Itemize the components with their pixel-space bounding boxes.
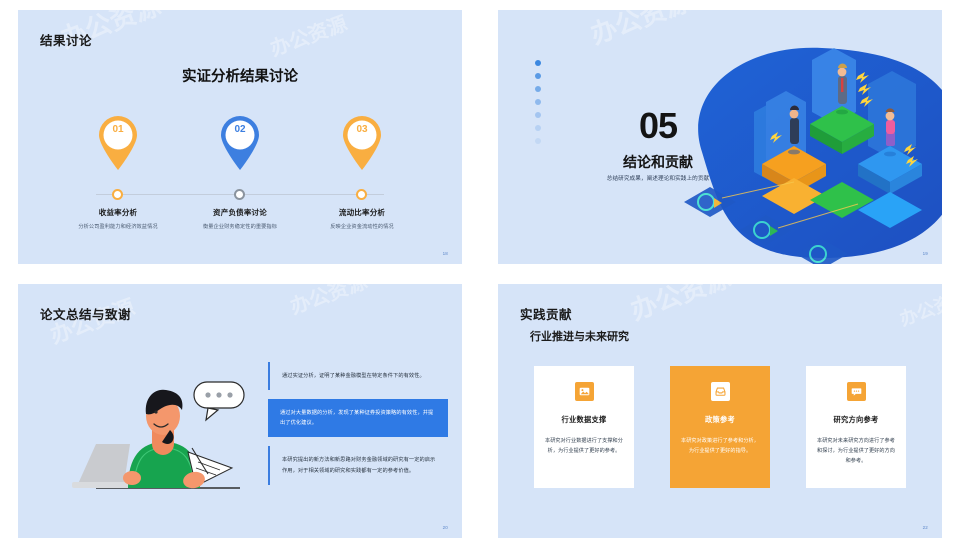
timeline-dot-02 — [234, 189, 245, 200]
step-title: 资产负债率讨论 — [180, 207, 300, 218]
slide1-canvas: 办公资源 办公资源 结果讨论 实证分析结果讨论 01 02 03 — [18, 10, 462, 264]
page-number: 20 — [443, 525, 448, 530]
step-number: 03 — [340, 124, 384, 135]
illustration-man-with-laptop — [70, 366, 260, 506]
image-chart-icon — [575, 382, 594, 401]
step-number: 02 — [218, 124, 262, 135]
watermark: 办公资源 — [285, 284, 370, 320]
card-title: 研究方向参考 — [817, 415, 895, 425]
step-pin-03[interactable]: 03 — [340, 115, 384, 171]
section-number: 05 — [558, 108, 758, 144]
step-caption-03: 流动比率分析 反映企业资金流动性的情况 — [302, 207, 422, 232]
step-desc: 分析公司盈利能力和经济效益情况 — [58, 223, 178, 232]
step-desc: 反映企业资金流动性的情况 — [302, 223, 422, 232]
step-pin-02[interactable]: 02 — [218, 115, 262, 171]
summary-text-column: 通过实证分析，证明了某种金融模型在特定条件下的有效性。 通过对大量数据的分析，发… — [268, 362, 448, 494]
step-pin-01[interactable]: 01 — [96, 115, 140, 171]
page-number: 18 — [443, 251, 448, 256]
card-desc: 本研究对未来研究方向进行了参考和探讨，为行业提供了更好的方向和参考。 — [817, 437, 895, 467]
watermark: 办公资源 — [265, 10, 350, 62]
contribution-card-highlighted[interactable]: 政策参考 本研究对政策进行了参考和分析，为行业提供了更好的指导。 — [670, 366, 770, 488]
card-desc: 本研究对行业数据进行了支撑和分析，为行业提供了更好的参考。 — [545, 437, 623, 457]
card-title: 政策参考 — [681, 415, 759, 425]
step-desc: 衡量企业财务稳定性的重要指标 — [180, 223, 300, 232]
illustration-isometric-platforms — [662, 32, 942, 264]
summary-block: 本研究提出的新方法和新思路对财务金融领域的研究有一定的启示作用，对于相关领域的研… — [268, 446, 448, 484]
step-title: 流动比率分析 — [302, 207, 422, 218]
watermark: 办公资源 — [625, 284, 735, 328]
timeline-dot-03 — [356, 189, 367, 200]
watermark: 办公资源 — [896, 284, 942, 332]
page-number: 22 — [923, 525, 928, 530]
summary-block: 通过实证分析，证明了某种金融模型在特定条件下的有效性。 — [268, 362, 448, 390]
section-subtitle: 总结研究成果，阐述理论和实践上的贡献 — [538, 174, 778, 182]
timeline-dot-01 — [112, 189, 123, 200]
speech-bubble-icon — [847, 382, 866, 401]
page-title: 论文总结与致谢 — [40, 304, 131, 323]
slide-summary-acknowledgement[interactable]: 办公资源 办公资源 论文总结与致谢 — [0, 274, 480, 548]
summary-text: 通过对大量数据的分析，发现了某种证券投资策略的有效性，并提出了优化建议。 — [280, 408, 438, 428]
page-subtitle: 行业推进与未来研究 — [530, 328, 629, 344]
step-caption-02: 资产负债率讨论 衡量企业财务稳定性的重要指标 — [180, 207, 300, 232]
card-desc: 本研究对政策进行了参考和分析，为行业提供了更好的指导。 — [681, 437, 759, 457]
summary-text: 通过实证分析，证明了某种金融模型在特定条件下的有效性。 — [282, 371, 438, 381]
inbox-envelope-icon — [711, 382, 730, 401]
slide1-heading: 实证分析结果讨论 — [18, 65, 462, 86]
page-title: 实践贡献 — [520, 304, 572, 323]
slide-grid: 办公资源 办公资源 结果讨论 实证分析结果讨论 01 02 03 — [0, 0, 960, 548]
section-title: 结论和贡献 — [558, 152, 758, 172]
summary-block-highlighted: 通过对大量数据的分析，发现了某种证券投资策略的有效性，并提出了优化建议。 — [268, 399, 448, 437]
slide-section-conclusion[interactable]: 办公资源 — [480, 0, 960, 274]
contribution-card-group: 行业数据支撑 本研究对行业数据进行了支撑和分析，为行业提供了更好的参考。 政策参… — [534, 366, 906, 488]
contribution-card[interactable]: 行业数据支撑 本研究对行业数据进行了支撑和分析，为行业提供了更好的参考。 — [534, 366, 634, 488]
slide-results-discussion[interactable]: 办公资源 办公资源 结果讨论 实证分析结果讨论 01 02 03 — [0, 0, 480, 274]
step-pin-group: 01 02 03 — [18, 115, 462, 175]
slide-practical-contribution[interactable]: 办公资源 办公资源 实践贡献 行业推进与未来研究 行业数据支撑 本研究对行业数据… — [480, 274, 960, 548]
page-title: 结果讨论 — [40, 30, 92, 49]
step-title: 收益率分析 — [58, 207, 178, 218]
step-number: 01 — [96, 124, 140, 135]
decorative-dot-column — [535, 60, 541, 151]
contribution-card[interactable]: 研究方向参考 本研究对未来研究方向进行了参考和探讨，为行业提供了更好的方向和参考… — [806, 366, 906, 488]
step-caption-01: 收益率分析 分析公司盈利能力和经济效益情况 — [58, 207, 178, 232]
slide4-canvas: 办公资源 办公资源 实践贡献 行业推进与未来研究 行业数据支撑 本研究对行业数据… — [498, 284, 942, 538]
card-title: 行业数据支撑 — [545, 415, 623, 425]
page-number: 19 — [923, 251, 928, 256]
slide3-canvas: 办公资源 办公资源 论文总结与致谢 — [18, 284, 462, 538]
summary-text: 本研究提出的新方法和新思路对财务金融领域的研究有一定的启示作用，对于相关领域的研… — [282, 455, 438, 475]
slide2-canvas: 办公资源 — [498, 10, 942, 264]
